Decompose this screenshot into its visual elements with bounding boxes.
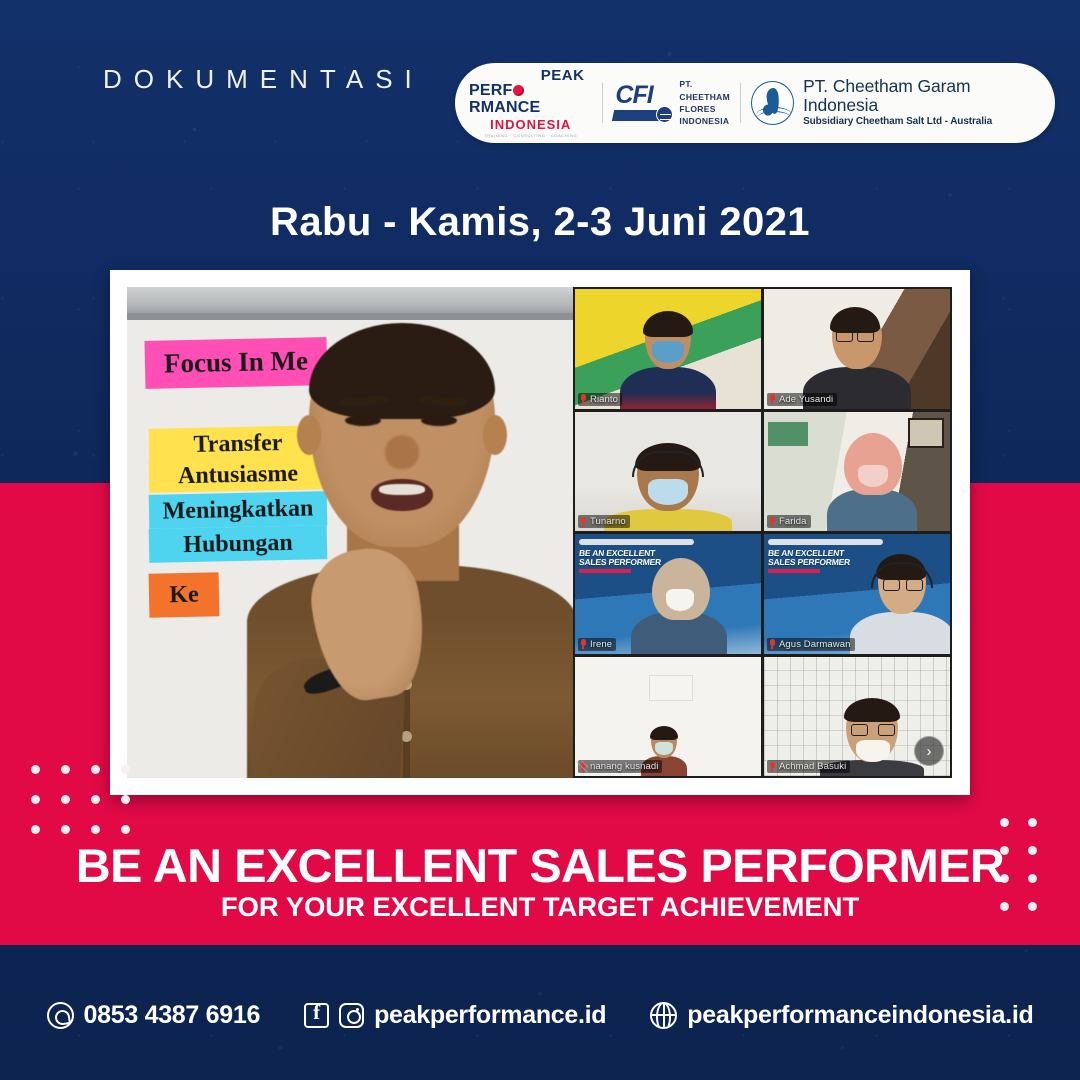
- speaker-ear-left: [297, 415, 321, 455]
- flipchart-note-5: Hubungan: [149, 525, 328, 563]
- peak-logo-line1: PEAK: [541, 68, 593, 83]
- photo-frame: Focus In Me Transfer Antusiasme Meningka…: [110, 270, 970, 795]
- logo-divider-1: [602, 83, 603, 123]
- slide-toolbar-decor: [768, 539, 883, 545]
- poster-canvas: DOKUMENTASI PEAK PERFRMANCE INDONESIA TR…: [0, 0, 1080, 1080]
- instagram-icon: [339, 1003, 364, 1028]
- participant-face: [846, 702, 898, 762]
- peak-logo-perf: PERF: [469, 82, 512, 99]
- participant-tile[interactable]: Ade Yusandi: [764, 289, 950, 409]
- footer-phone-number: 0853 4387 6916: [84, 1001, 261, 1030]
- seahorse-seal-icon: [751, 81, 794, 125]
- flipchart-note-6: Ke: [149, 572, 220, 617]
- footer-contact-bar: 0853 4387 6916 peakperformance.id peakpe…: [0, 985, 1080, 1045]
- eyebrow-label: DOKUMENTASI: [103, 64, 424, 95]
- participant-body: [850, 612, 950, 654]
- cfi-letters: CFI: [615, 83, 652, 108]
- cheetham-text-block: PT. Cheetham Garam Indonesia Subsidiary …: [803, 77, 1045, 130]
- participant-face: [645, 315, 691, 369]
- cfi-text-line1: PT.: [679, 78, 730, 90]
- footer-phone-group[interactable]: 0853 4387 6916: [47, 1001, 261, 1030]
- participant-nametag: nanang kusnadi: [578, 760, 662, 773]
- participant-tile[interactable]: Achmad Basuki ›: [764, 657, 950, 777]
- logo-cfi: CFI PT. CHEETHAM FLORES INDONESIA: [613, 63, 730, 143]
- participant-name: Achmad Basuki: [779, 761, 846, 772]
- participant-tile[interactable]: BE AN EXCELLENT SALES PERFORMER Irene: [575, 534, 761, 654]
- cfi-company-text: PT. CHEETHAM FLORES INDONESIA: [679, 78, 730, 127]
- mic-muted-icon: [769, 394, 776, 404]
- decorative-dot-grid-left: [31, 765, 130, 834]
- slide-toolbar-decor: [579, 539, 694, 545]
- mic-muted-icon: [580, 639, 587, 649]
- banner-subheadline: FOR YOUR EXCELLENT TARGET ACHIEVEMENT: [0, 892, 1080, 923]
- vbg-accent-bar: [579, 569, 631, 573]
- mic-muted-icon: [769, 639, 776, 649]
- peak-logo-line3: INDONESIA: [490, 117, 571, 133]
- partner-logo-bar: PEAK PERFRMANCE INDONESIA TRAINING · CON…: [455, 63, 1055, 143]
- participant-tile[interactable]: BE AN EXCELLENT SALES PERFORMER: [764, 534, 950, 654]
- speaker-hair: [309, 323, 495, 419]
- participant-nametag: Tunarno: [578, 515, 630, 528]
- resize-grip-icon[interactable]: [576, 761, 588, 773]
- face-mask-icon: [858, 465, 888, 487]
- mic-muted-icon: [769, 517, 776, 527]
- glasses-icon: [851, 724, 895, 734]
- flipchart-note-1: Focus In Me: [145, 337, 328, 389]
- whiteboard-rail-shadow: [127, 313, 573, 320]
- peak-logo-rmance: RMANCE: [469, 99, 540, 116]
- participant-name: nanang kusnadi: [590, 761, 658, 772]
- footer-social-handle: peakperformance.id: [374, 1001, 606, 1030]
- footer-website-url: peakperformanceindonesia.id: [687, 1001, 1033, 1030]
- cfi-text-line2: CHEETHAM: [679, 91, 730, 103]
- vbg-accent-bar: [768, 569, 820, 573]
- cheetham-subtitle: Subsidiary Cheetham Salt Ltd - Australia: [803, 115, 1045, 129]
- participant-name: Irene: [590, 639, 612, 650]
- flipchart-note-4: Meningkatkan: [149, 491, 328, 529]
- speaker-nose: [385, 435, 419, 469]
- participant-tile[interactable]: Farida: [764, 412, 950, 532]
- participant-nametag: Rianto: [578, 393, 622, 406]
- zoom-participant-grid: Rianto Ade Yusandi: [573, 287, 952, 778]
- flipchart-note-3: Antusiasme: [149, 457, 328, 493]
- logo-divider-2: [740, 83, 741, 123]
- footer-social-group[interactable]: peakperformance.id: [304, 1001, 606, 1030]
- participant-tile[interactable]: nanang kusnadi: [575, 657, 761, 777]
- participant-face: [832, 311, 882, 369]
- whiteboard-rail: [127, 287, 573, 313]
- speaker-mouth: [371, 479, 433, 511]
- participant-face: [850, 439, 894, 491]
- globe-icon: [650, 1002, 677, 1029]
- facebook-icon: [304, 1003, 329, 1028]
- participant-body: [827, 489, 917, 531]
- participant-nametag: Ade Yusandi: [767, 393, 837, 406]
- next-page-button[interactable]: ›: [914, 736, 944, 766]
- whatsapp-icon: [47, 1002, 74, 1029]
- logo-peak-performance: PEAK PERFRMANCE INDONESIA TRAINING · CON…: [455, 63, 592, 143]
- peak-logo-line2: PERFRMANCE: [469, 83, 592, 117]
- participant-nametag: Achmad Basuki: [767, 760, 850, 773]
- participant-tile[interactable]: Tunarno: [575, 412, 761, 532]
- participant-tile[interactable]: Rianto: [575, 289, 761, 409]
- mic-muted-icon: [769, 762, 776, 772]
- participant-name: Rianto: [590, 394, 618, 405]
- cfi-globe-icon: [656, 106, 673, 123]
- speaker-ear-right: [483, 415, 507, 455]
- participant-face: [658, 564, 700, 614]
- globe-icon: [513, 85, 524, 96]
- peak-logo-tagline: TRAINING · CONSULTING · COACHING: [484, 133, 577, 138]
- participant-hair: [650, 726, 678, 740]
- screenshot-photo: Focus In Me Transfer Antusiasme Meningka…: [127, 287, 952, 778]
- face-mask-icon: [655, 742, 673, 755]
- participant-name: Agus Darmawan: [779, 639, 851, 650]
- face-mask-icon: [666, 589, 694, 611]
- participant-nametag: Farida: [767, 515, 811, 528]
- cfi-mark-icon: CFI: [613, 82, 671, 124]
- desk-paper-decor: [649, 675, 693, 701]
- participant-nametag: Agus Darmawan: [767, 638, 855, 651]
- wall-poster-decor: [768, 422, 808, 446]
- speaker-eye-left: [345, 415, 381, 426]
- cfi-text-line4: INDONESIA: [679, 115, 730, 127]
- banner-headline: BE AN EXCELLENT SALES PERFORMER: [0, 838, 1080, 893]
- participant-face: [637, 447, 699, 511]
- participant-hair: [643, 311, 693, 337]
- participant-name: Tunarno: [590, 516, 626, 527]
- mic-muted-icon: [580, 394, 587, 404]
- participant-name: Farida: [779, 516, 807, 527]
- face-mask-icon: [648, 479, 688, 505]
- participant-body: [620, 367, 716, 409]
- speaker-eye-right: [421, 415, 457, 426]
- logo-cheetham-garam: PT. Cheetham Garam Indonesia Subsidiary …: [751, 63, 1055, 143]
- mic-muted-icon: [580, 517, 587, 527]
- face-mask-icon: [652, 341, 684, 363]
- event-date-title: Rabu - Kamis, 2-3 Juni 2021: [0, 200, 1080, 245]
- participant-face: [651, 728, 677, 758]
- participant-nametag: Irene: [578, 638, 616, 651]
- face-mask-icon: [856, 740, 890, 762]
- glasses-icon: [836, 330, 874, 340]
- footer-website-group[interactable]: peakperformanceindonesia.id: [650, 1001, 1033, 1030]
- speaker-video-panel: Focus In Me Transfer Antusiasme Meningka…: [127, 287, 573, 778]
- participant-name: Ade Yusandi: [779, 394, 833, 405]
- participant-hair: [844, 698, 900, 722]
- cfi-text-line3: FLORES: [679, 103, 730, 115]
- participant-face: [878, 558, 926, 614]
- cheetham-title: PT. Cheetham Garam Indonesia: [803, 77, 1045, 116]
